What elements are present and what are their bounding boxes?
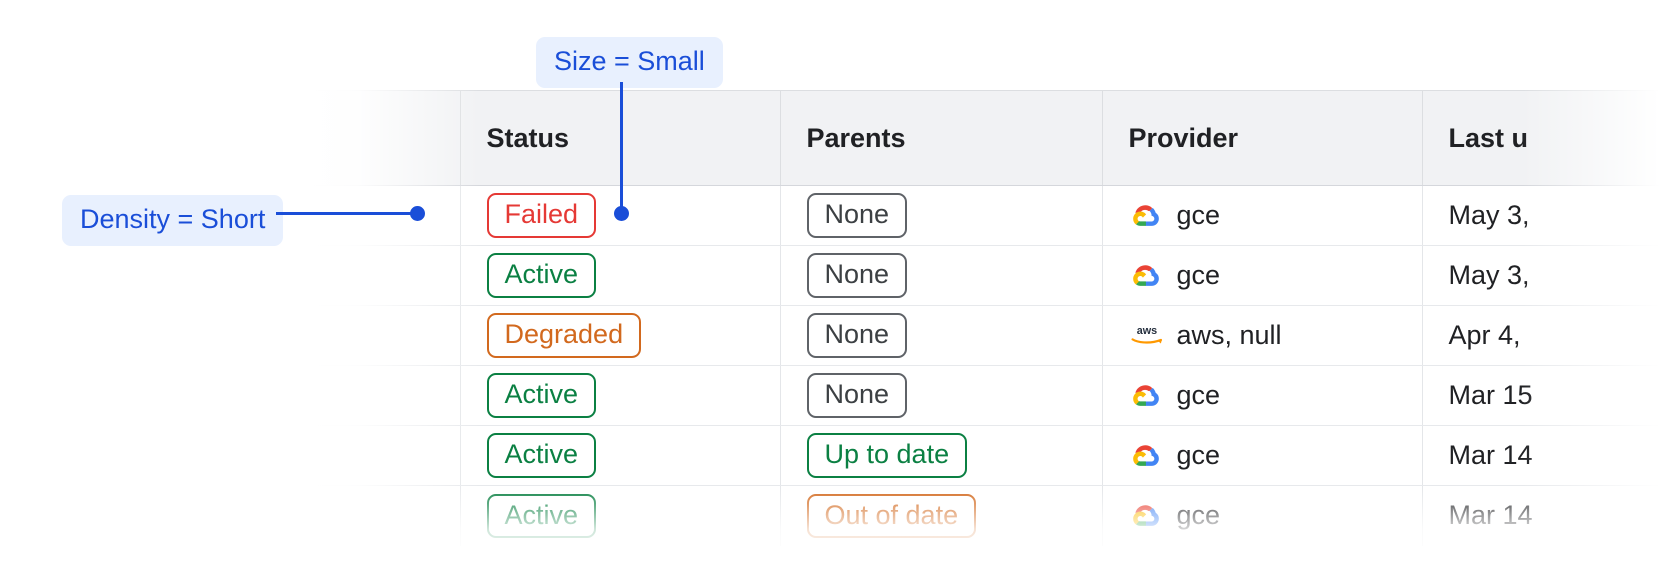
table-row[interactable]: ActiveNonegceMay 3, [310,246,1672,306]
gcp-icon [1129,439,1163,473]
column-header-name[interactable]: tion [310,91,460,186]
cell-last-updated: May 3, [1422,246,1672,306]
cell-last-updated: Mar 14 [1422,426,1672,486]
status-badge: Active [487,253,597,297]
screenshot-root: tion Status Parents Provider Last u Fail… [0,0,1672,564]
cell-parents: None [780,306,1102,366]
annotation-size-label: Size = Small [536,37,723,88]
status-badge: Active [487,494,597,538]
table-header: tion Status Parents Provider Last u [310,91,1672,186]
annotation-density-dot [410,206,425,221]
cell-status: Active [460,486,780,546]
parents-badge: Out of date [807,494,977,538]
provider-label: gce [1177,200,1221,231]
annotation-density-label: Density = Short [62,195,283,246]
cell-name [310,426,460,486]
cell-status: Active [460,366,780,426]
provider-group: gce [1129,199,1396,233]
annotation-density-line [276,212,418,215]
gcp-icon [1129,499,1163,533]
status-badge: Degraded [487,313,642,357]
table-header-row: tion Status Parents Provider Last u [310,91,1672,186]
cell-provider: gce [1102,486,1422,546]
cell-status: Active [460,246,780,306]
cell-status: Active [460,426,780,486]
parents-badge: None [807,193,908,237]
table-row[interactable]: ActiveOut of dategceMar 14 [310,486,1672,546]
cell-status: Degraded [460,306,780,366]
annotation-size-dot [614,206,629,221]
cell-name [310,306,460,366]
cell-parents: None [780,366,1102,426]
provider-group: gce [1129,439,1396,473]
cell-name [310,366,460,426]
provider-label: gce [1177,500,1221,531]
cell-last-updated: Apr 4, [1422,306,1672,366]
cell-provider: gce [1102,186,1422,246]
parents-badge: None [807,373,908,417]
cell-name [310,486,460,546]
provider-label: gce [1177,260,1221,291]
cell-last-updated: May 3, [1422,186,1672,246]
provider-group: awsaws, null [1129,319,1396,353]
gcp-icon [1129,379,1163,413]
provider-label: gce [1177,380,1221,411]
annotation-size-line [620,82,623,212]
cell-provider: gce [1102,366,1422,426]
provider-group: gce [1129,499,1396,533]
cell-name [310,246,460,306]
resources-table: tion Status Parents Provider Last u Fail… [310,90,1672,546]
cell-provider: gce [1102,246,1422,306]
status-badge: Active [487,433,597,477]
provider-group: gce [1129,379,1396,413]
cell-parents: None [780,186,1102,246]
status-badge: Failed [487,193,597,237]
cell-parents: Out of date [780,486,1102,546]
column-header-parents[interactable]: Parents [780,91,1102,186]
table-row[interactable]: ActiveNonegceMar 15 [310,366,1672,426]
cell-provider: awsaws, null [1102,306,1422,366]
parents-badge: None [807,313,908,357]
gcp-icon [1129,259,1163,293]
cell-parents: None [780,246,1102,306]
cell-name [310,186,460,246]
resources-table-container[interactable]: tion Status Parents Provider Last u Fail… [310,90,1672,564]
table-row[interactable]: DegradedNoneawsaws, nullApr 4, [310,306,1672,366]
parents-badge: None [807,253,908,297]
cell-last-updated: Mar 15 [1422,366,1672,426]
svg-text:aws: aws [1136,325,1156,337]
provider-group: gce [1129,259,1396,293]
cell-provider: gce [1102,426,1422,486]
cell-last-updated: Mar 14 [1422,486,1672,546]
provider-label: gce [1177,440,1221,471]
provider-label: aws, null [1177,320,1282,351]
table-row[interactable]: FailedNonegceMay 3, [310,186,1672,246]
parents-badge: Up to date [807,433,968,477]
table-body: FailedNonegceMay 3,ActiveNonegceMay 3,De… [310,186,1672,546]
column-header-provider[interactable]: Provider [1102,91,1422,186]
aws-icon: aws [1129,319,1163,353]
table-row[interactable]: ActiveUp to dategceMar 14 [310,426,1672,486]
column-header-last-updated[interactable]: Last u [1422,91,1672,186]
cell-parents: Up to date [780,426,1102,486]
gcp-icon [1129,199,1163,233]
status-badge: Active [487,373,597,417]
